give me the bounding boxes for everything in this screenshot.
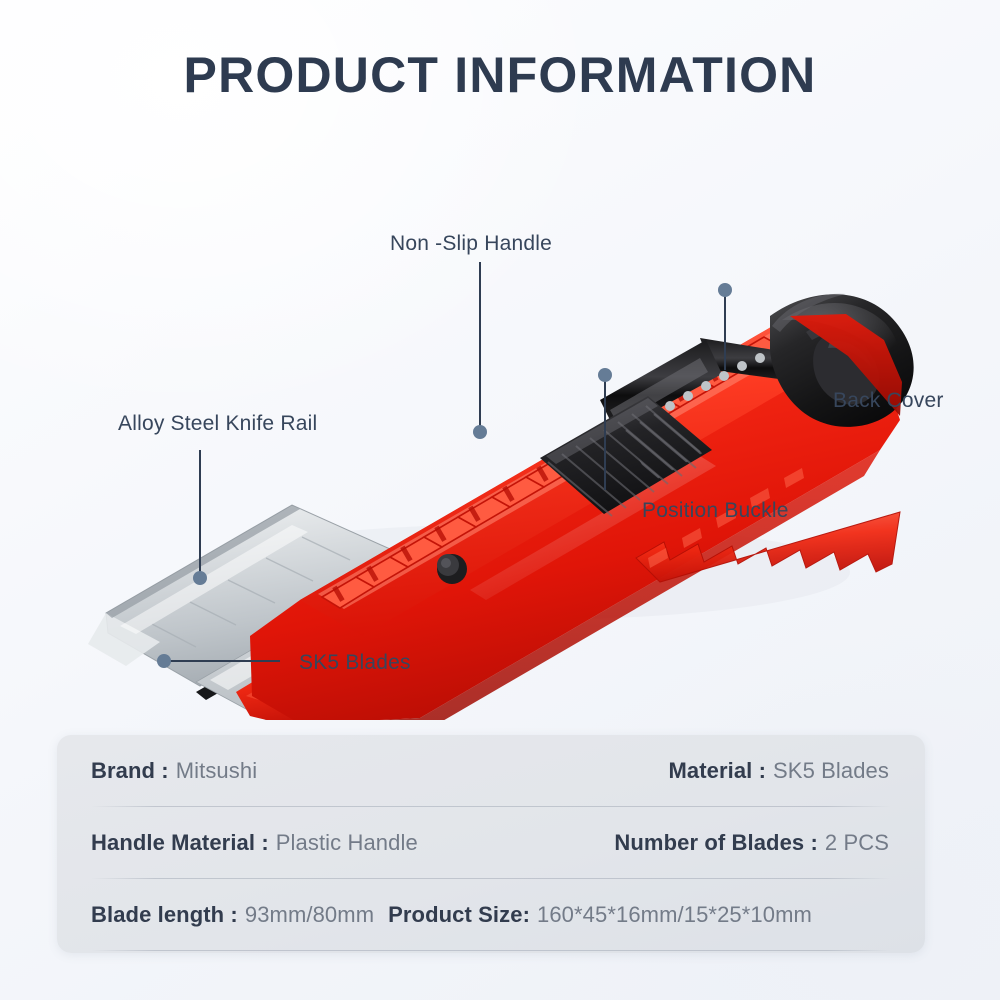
callout-label-sk5-blades: SK5 Blades [299, 651, 411, 675]
spec-value-material: SK5 Blades [773, 758, 889, 784]
callout-label-position-buckle: Position Buckle [642, 499, 789, 523]
spec-row-length-size: Blade length : 93mm/80mm Product Size: 1… [57, 879, 925, 951]
spec-label-material: Material : [668, 758, 766, 784]
callout-label-non-slip-handle: Non -Slip Handle [390, 232, 552, 256]
callout-label-alloy-steel-knife-rail: Alloy Steel Knife Rail [118, 412, 317, 436]
spec-cell-material: Material : SK5 Blades [668, 758, 889, 784]
callout-label-back-cover: Back Cover [833, 389, 944, 413]
spec-cell-brand: Brand : Mitsushi [91, 758, 257, 784]
dot-position-buckle [598, 368, 612, 382]
spec-divider-3 [91, 950, 891, 951]
page-title: PRODUCT INFORMATION [0, 46, 1000, 104]
specification-panel: Brand : Mitsushi Material : SK5 Blades H… [57, 735, 925, 953]
spec-cell-product-size: Product Size: 160*45*16mm/15*25*10mm [388, 902, 812, 928]
spec-label-brand: Brand : [91, 758, 169, 784]
spec-value-blade-length: 93mm/80mm [245, 902, 374, 928]
spec-label-blade-length: Blade length : [91, 902, 238, 928]
spec-value-brand: Mitsushi [176, 758, 258, 784]
spec-row-handle-blades: Handle Material : Plastic Handle Number … [57, 807, 925, 879]
dot-back-cover [718, 283, 732, 297]
spec-label-product-size: Product Size: [388, 902, 530, 928]
spec-value-handle-material: Plastic Handle [276, 830, 418, 856]
spec-label-handle-material: Handle Material : [91, 830, 269, 856]
spec-cell-handle-material: Handle Material : Plastic Handle [91, 830, 418, 856]
spec-row-brand-material: Brand : Mitsushi Material : SK5 Blades [57, 735, 925, 807]
spec-label-number-of-blades: Number of Blades : [614, 830, 818, 856]
spec-cell-number-of-blades: Number of Blades : 2 PCS [614, 830, 889, 856]
spec-value-product-size: 160*45*16mm/15*25*10mm [537, 902, 812, 928]
dot-sk5-blades [157, 654, 171, 668]
dot-non-slip-handle [473, 425, 487, 439]
blade-lock-button [437, 554, 467, 584]
product-information-page: PRODUCT INFORMATION [0, 0, 1000, 1000]
spec-cell-blade-length: Blade length : 93mm/80mm [91, 902, 374, 928]
spec-value-number-of-blades: 2 PCS [825, 830, 889, 856]
dot-alloy-steel-rail [193, 571, 207, 585]
